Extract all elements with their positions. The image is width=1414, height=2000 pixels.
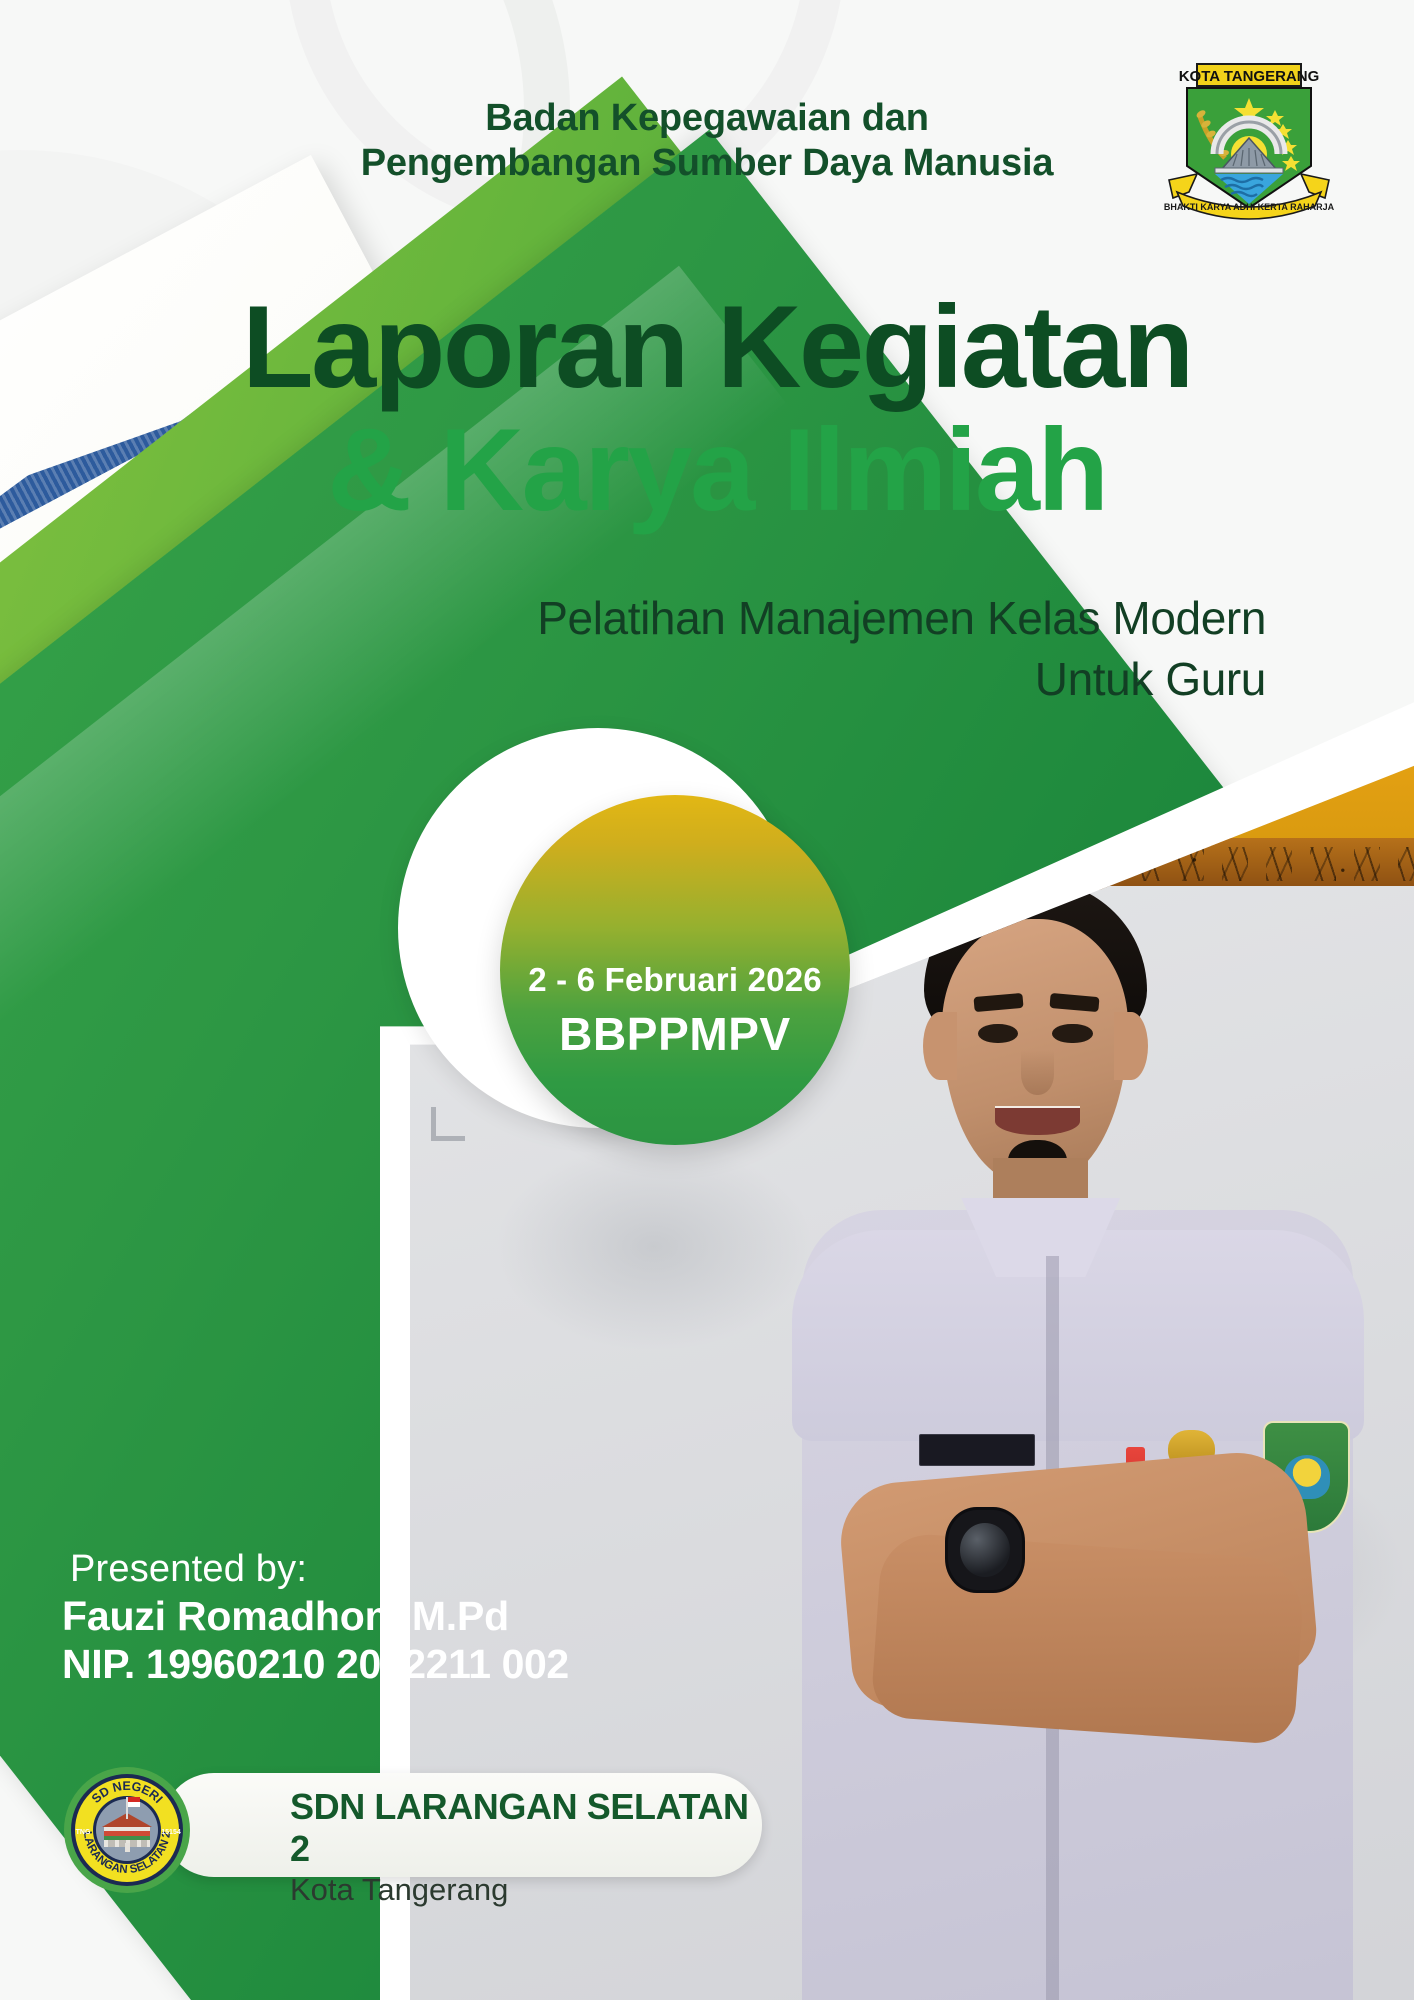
page-subtitle-line2: Untuk Guru [366,649,1266,710]
school-identity: SDN LARANGAN SELATAN 2 Kota Tangerang [62,1765,762,1885]
school-logo-left-code: TNG [76,1829,91,1836]
presenter-block: Presented by: Fauzi Romadhon, M.Pd NIP. … [62,1548,622,1688]
person-eye-right [1052,1024,1092,1044]
presented-by-label: Presented by: [62,1548,622,1591]
person-mouth [995,1106,1080,1135]
person-nose [1021,1050,1055,1095]
school-name: SDN LARANGAN SELATAN 2 [290,1786,762,1870]
page-title: Laporan Kegiatan & Karya Ilmiah [0,288,1414,528]
person-ear-left [923,1012,957,1081]
organization-name-line2: Pengembangan Sumber Daya Manusia [361,141,1054,186]
school-city: Kota Tangerang [290,1872,762,1908]
badge-venue: BBPPMPV [559,1007,791,1061]
person-wristwatch [945,1507,1025,1593]
presenter-name: Fauzi Romadhon, M.Pd [62,1593,622,1640]
school-logo-right-code: 15154 [161,1829,181,1836]
page-title-line1: Laporan Kegiatan [60,288,1374,405]
organization-name: Badan Kepegawaian dan Pengembangan Sumbe… [361,96,1054,186]
page-title-line2: & Karya Ilmiah [60,411,1374,528]
person-name-tag [919,1434,1036,1466]
page-subtitle: Pelatihan Manajemen Kelas Modern Untuk G… [366,588,1266,709]
school-pill: SDN LARANGAN SELATAN 2 Kota Tangerang [162,1773,762,1877]
svg-text:BHAKTI KARYA ADHI KERTA RAHARJ: BHAKTI KARYA ADHI KERTA RAHARJA [1164,202,1335,212]
kota-tangerang-emblem-icon: KOTA TANGERANG [1163,62,1335,222]
svg-text:KOTA TANGERANG: KOTA TANGERANG [1179,68,1320,85]
event-badge: 2 - 6 Februari 2026 BBPPMPV [500,795,850,1145]
page-subtitle-line1: Pelatihan Manajemen Kelas Modern [366,588,1266,649]
badge-date: 2 - 6 Februari 2026 [528,961,822,999]
person-arm-lower [870,1532,1306,1746]
presenter-nip: NIP. 19960210 2022211 002 [62,1641,622,1688]
organization-name-line1: Badan Kepegawaian dan [361,96,1054,141]
person-ear-right [1114,1012,1148,1081]
school-logo-icon: SD NEGERI LARANGAN SELATAN 2 TNG 15154 [62,1765,192,1895]
poster-root: MP DP [0,0,1414,2000]
